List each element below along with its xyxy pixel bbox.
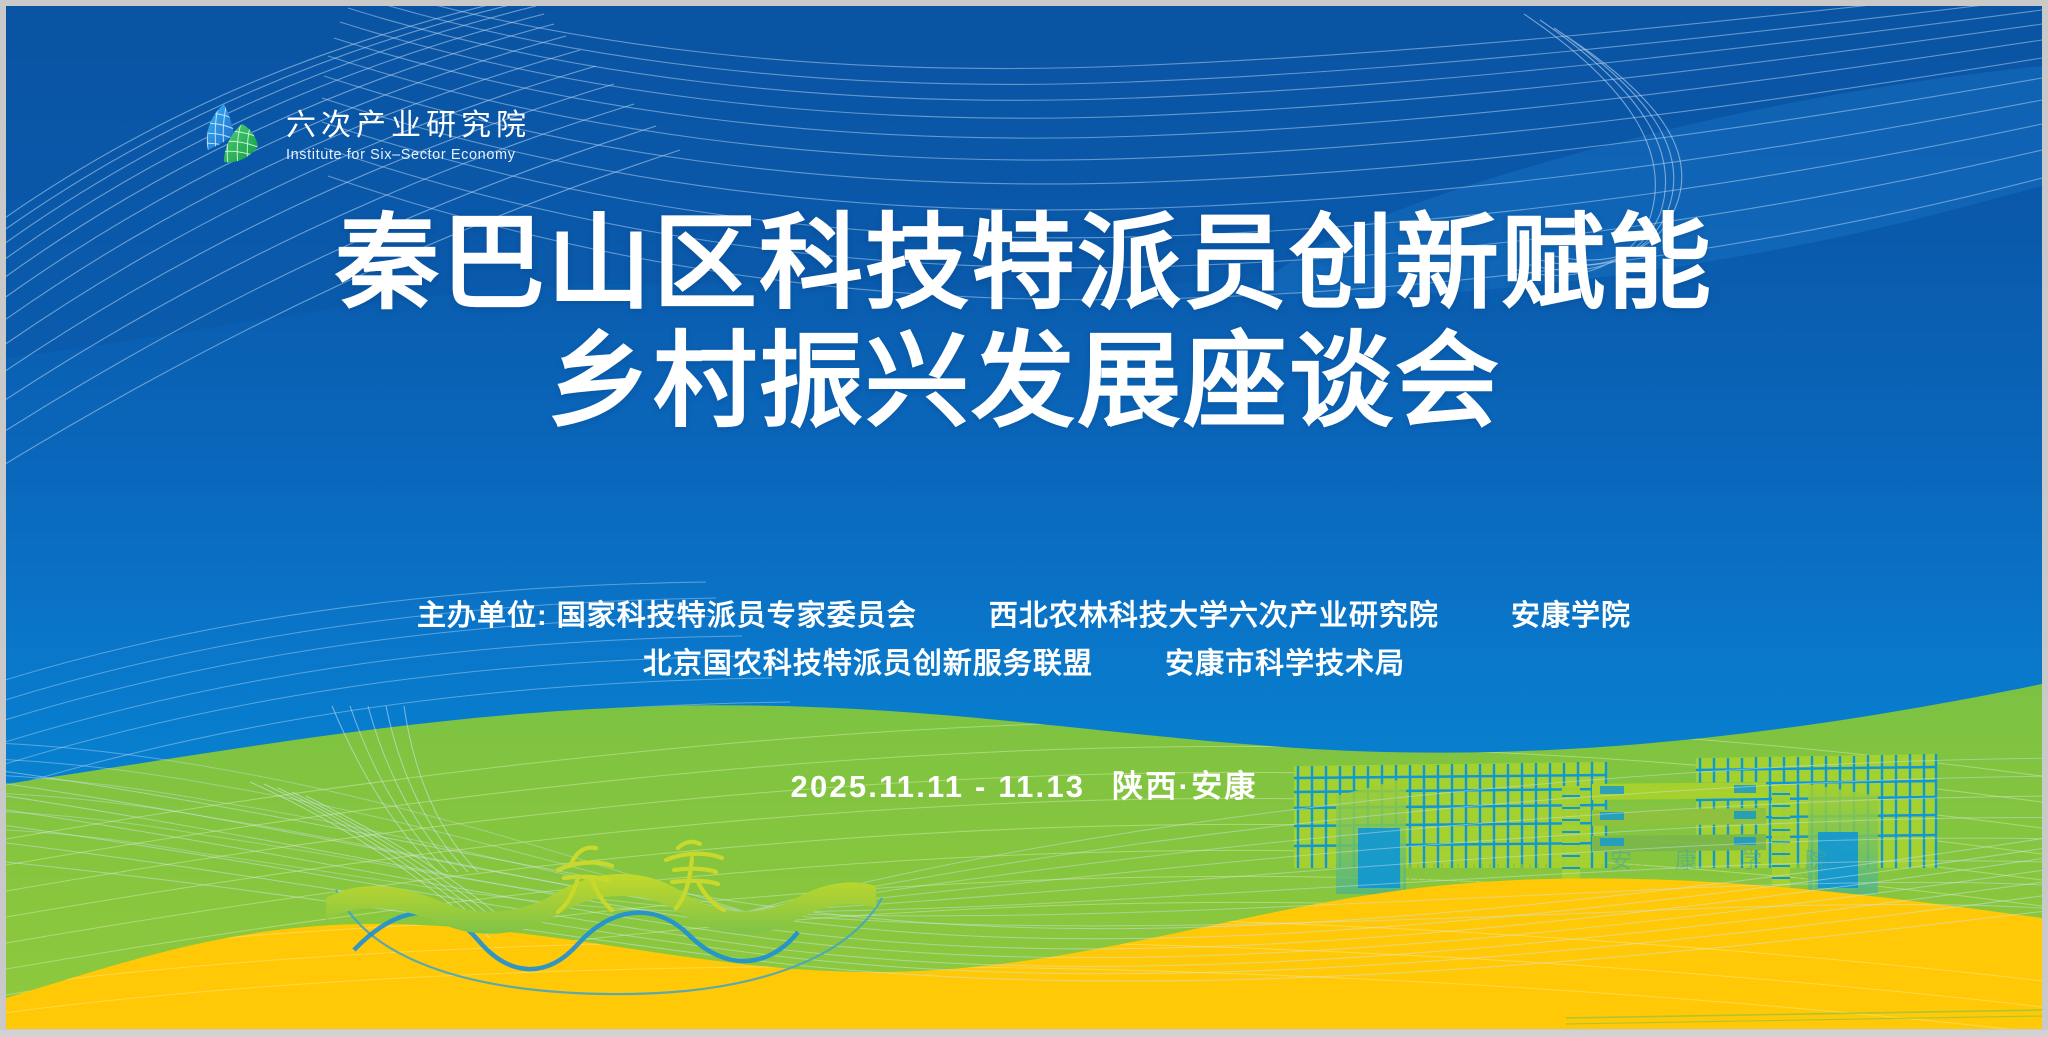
organizer-item-4: 北京国农科技特派员创新服务联盟 bbox=[643, 648, 1093, 680]
svg-text:安 康 学 院: 安 康 学 院 bbox=[1610, 849, 1845, 874]
gate-sign-text: 安 康 学 院 bbox=[1610, 849, 1845, 874]
event-date: 2025.11.11 - 11.13 bbox=[791, 769, 1086, 804]
headline-line-2: 乡村振兴发展座谈会 bbox=[6, 322, 2042, 440]
six-sector-logo-icon bbox=[198, 98, 270, 174]
organizers-row-2: 北京国农科技特派员创新服务联盟 安康市科学技术局 bbox=[6, 640, 2042, 688]
poster-board: 安 康 学 院 bbox=[6, 6, 2042, 1029]
gate-door-left bbox=[1358, 828, 1400, 888]
logo-name-en: Institute for Six–Sector Economy bbox=[286, 147, 531, 163]
bottom-edge-strip bbox=[0, 1030, 2048, 1037]
organizer-item-2: 西北农林科技大学六次产业研究院 bbox=[989, 600, 1439, 632]
event-datebar: 2025.11.11 - 11.13 陕西·安康 bbox=[6, 761, 2042, 806]
event-headline: 秦巴山区科技特派员创新赋能 乡村振兴发展座谈会 bbox=[6, 204, 2042, 440]
poster-stage: 安 康 学 院 bbox=[0, 0, 2048, 1037]
organizers-row-1: 主办单位: 国家科技特派员专家委员会 西北农林科技大学六次产业研究院 安康学院 bbox=[6, 592, 2042, 640]
organizers-block: 主办单位: 国家科技特派员专家委员会 西北农林科技大学六次产业研究院 安康学院 … bbox=[6, 592, 2042, 688]
event-location: 陕西·安康 bbox=[1112, 769, 1257, 804]
organization-logo: 六次产业研究院 Institute for Six–Sector Economy bbox=[198, 98, 531, 174]
organizer-item-1: 国家科技特派员专家委员会 bbox=[557, 600, 917, 632]
logo-text-block: 六次产业研究院 Institute for Six–Sector Economy bbox=[286, 109, 531, 164]
organizer-item-3: 安康学院 bbox=[1511, 600, 1631, 632]
organizers-label: 主办单位: bbox=[417, 600, 548, 632]
logo-name-cn: 六次产业研究院 bbox=[286, 109, 531, 144]
headline-line-1: 秦巴山区科技特派员创新赋能 bbox=[6, 204, 2042, 322]
organizer-item-5: 安康市科学技术局 bbox=[1165, 648, 1405, 680]
